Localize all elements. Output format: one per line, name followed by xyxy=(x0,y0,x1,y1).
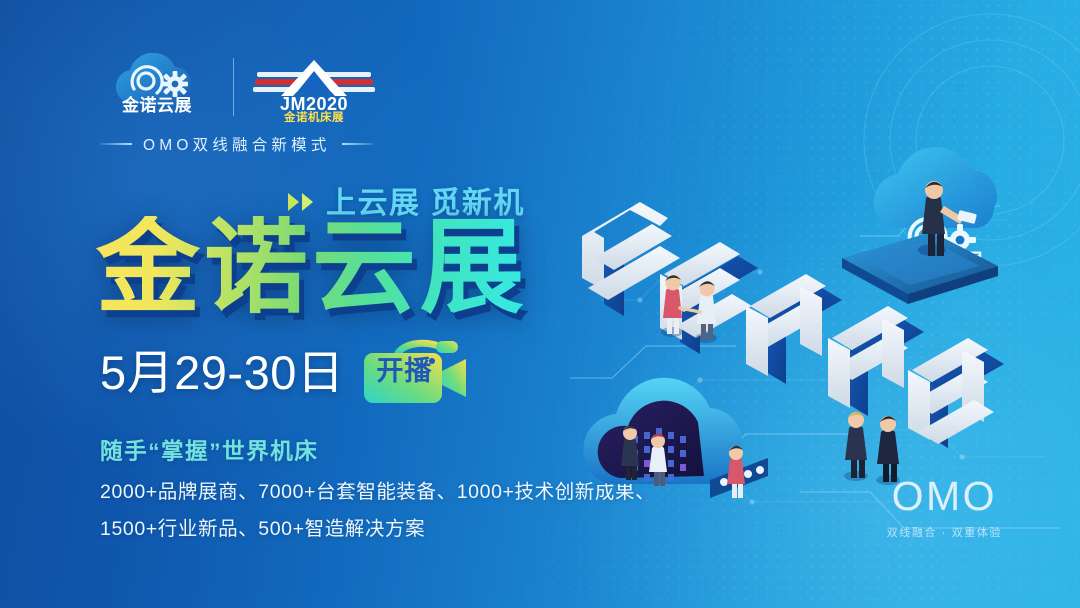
event-date-row: 5月29-30日 开播 xyxy=(100,339,474,405)
omo-footer-title: OMO xyxy=(887,476,1002,517)
omo-footer-subtitle: 双线融合 · 双重体验 xyxy=(887,524,1002,540)
gear-icon xyxy=(162,71,188,97)
jm-logo-text: 金诺机床展 xyxy=(283,110,344,122)
video-camera-icon[interactable]: 开播 xyxy=(362,339,474,405)
omo-footer-mark: OMO 双线融合 · 双重体验 xyxy=(887,476,1002,540)
omo-rule-right xyxy=(342,143,374,145)
double-chevron-right-icon xyxy=(288,193,313,211)
omo-mode-text: OMO双线融合新模式 xyxy=(143,133,331,155)
promo-banner: 金诺云展 JM2020 金诺机床展 OMO双线融合新模式 xyxy=(0,0,1080,608)
jm-logo[interactable]: JM2020 金诺机床展 xyxy=(251,52,377,122)
page-title: 金诺云展 xyxy=(96,216,528,320)
jm-logo-code: JM2020 xyxy=(280,94,348,114)
broadcast-badge-label: 开播 xyxy=(372,358,436,385)
event-date: 5月29-30日 xyxy=(100,349,344,396)
isometric-illustration: 金诺云展 xyxy=(560,140,1080,570)
logo-divider xyxy=(233,58,234,116)
logo-bar: 金诺云展 JM2020 金诺机床展 xyxy=(98,52,377,122)
cloud-logo-text: 金诺云展 xyxy=(121,95,192,115)
omo-rule-left xyxy=(100,143,132,145)
cloud-logo[interactable]: 金诺云展 xyxy=(98,53,216,121)
omo-mode-line: OMO双线融合新模式 xyxy=(100,133,374,155)
slogan-text: 随手“掌握”世界机床 xyxy=(100,434,319,466)
